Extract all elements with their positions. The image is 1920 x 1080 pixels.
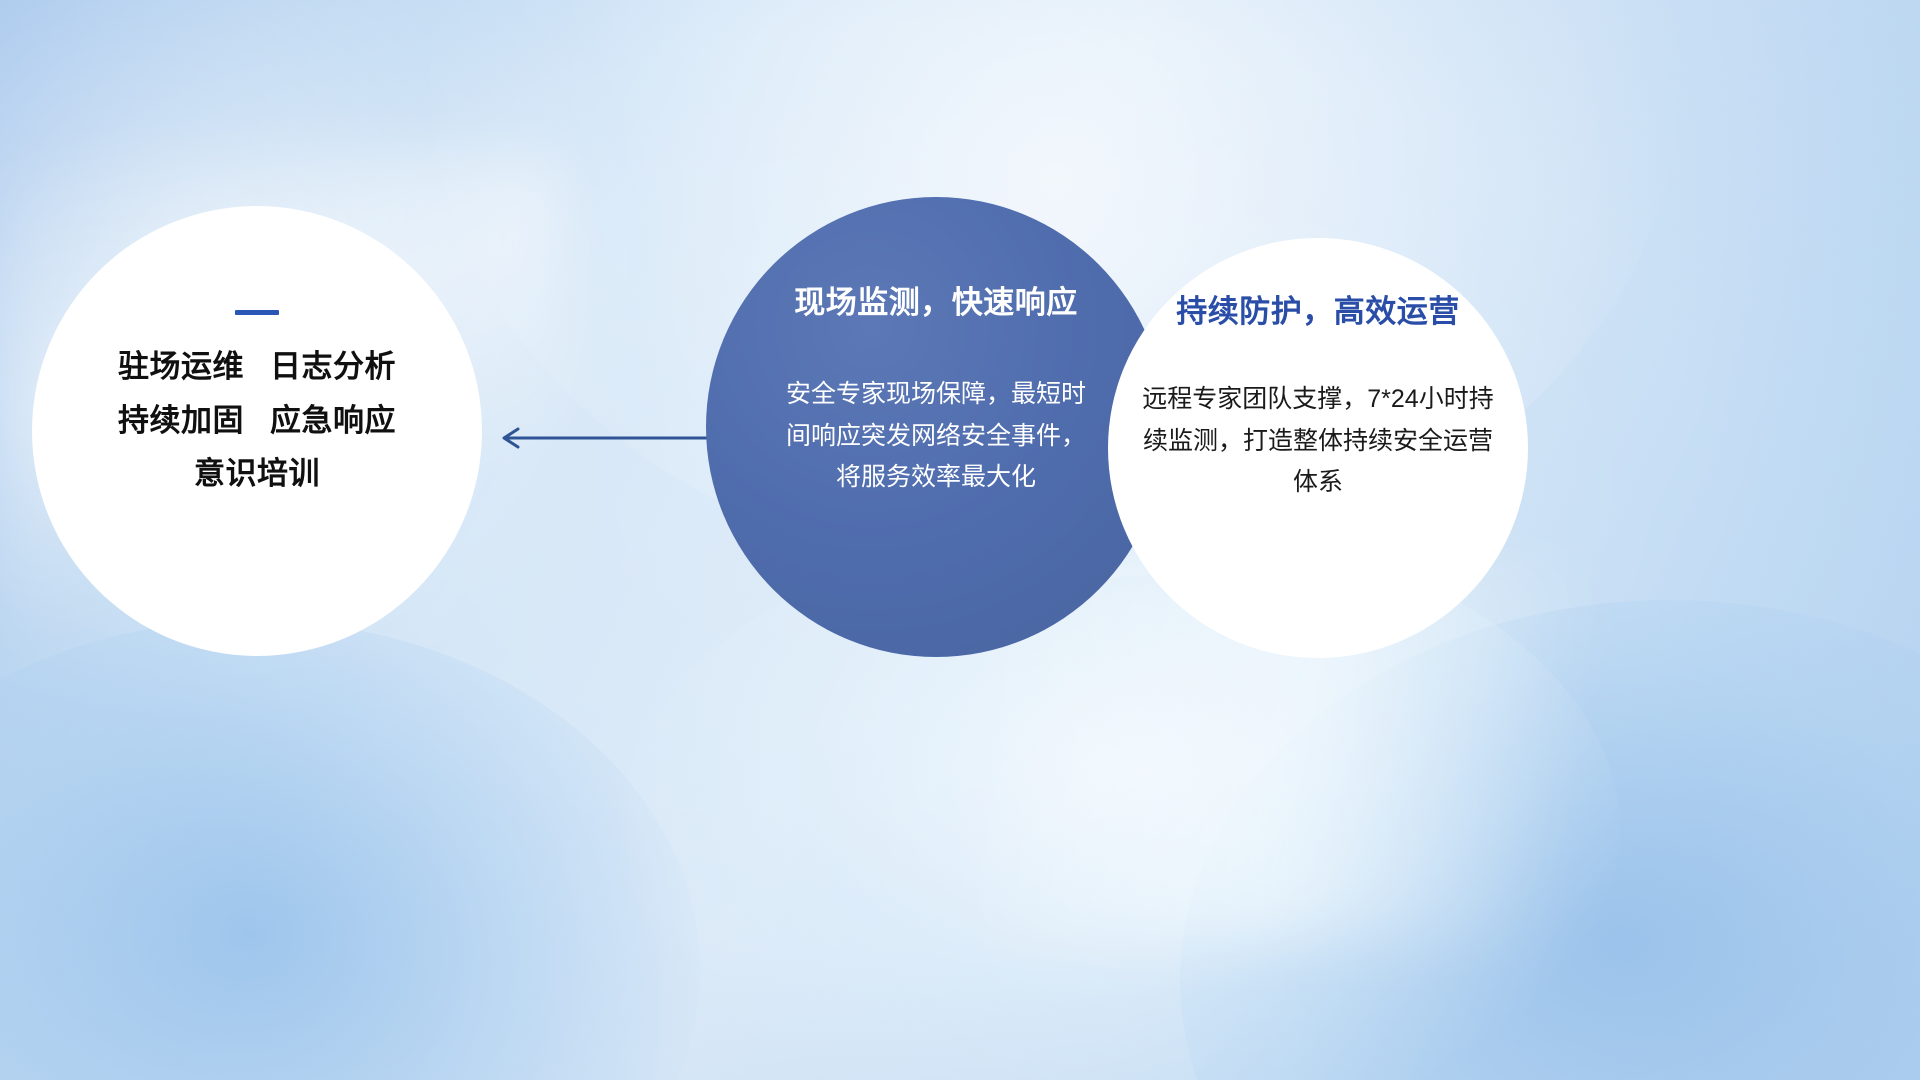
continuous-protection-body: 远程专家团队支撑，7*24小时持续监测，打造整体持续安全运营体系 xyxy=(1132,379,1504,504)
continuous-protection-circle[interactable]: 持续防护，高效运营 远程专家团队支撑，7*24小时持续监测，打造整体持续安全运营… xyxy=(1108,238,1528,658)
title-divider-dash xyxy=(235,310,279,315)
capability-item-continuous-hardening: 持续加固 xyxy=(118,403,244,438)
capability-list: 驻场运维日志分析 持续加固应急响应 意识培训 xyxy=(118,347,396,494)
capability-row-3: 意识培训 xyxy=(194,454,320,494)
capability-list-circle[interactable]: 驻场运维日志分析 持续加固应急响应 意识培训 xyxy=(32,206,482,656)
capability-row-2: 持续加固应急响应 xyxy=(118,401,396,441)
capability-item-onsite-ops: 驻场运维 xyxy=(118,349,244,384)
onsite-monitoring-title: 现场监测，快速响应 xyxy=(794,277,1078,322)
slide-canvas: 驻场运维日志分析 持续加固应急响应 意识培训 现场监测，快速响应 安全专家现场保… xyxy=(0,0,1920,1080)
capability-row-1: 驻场运维日志分析 xyxy=(118,347,396,387)
capability-item-emergency-response: 应急响应 xyxy=(270,403,396,438)
arrow-left-icon xyxy=(492,424,718,452)
continuous-protection-title: 持续防护，高效运营 xyxy=(1176,286,1460,331)
capability-item-log-analysis: 日志分析 xyxy=(270,349,396,384)
onsite-monitoring-circle[interactable]: 现场监测，快速响应 安全专家现场保障，最短时间响应突发网络安全事件，将服务效率最… xyxy=(706,197,1166,657)
onsite-monitoring-body: 安全专家现场保障，最短时间响应突发网络安全事件，将服务效率最大化 xyxy=(776,374,1096,499)
capability-item-awareness-training: 意识培训 xyxy=(194,456,320,491)
